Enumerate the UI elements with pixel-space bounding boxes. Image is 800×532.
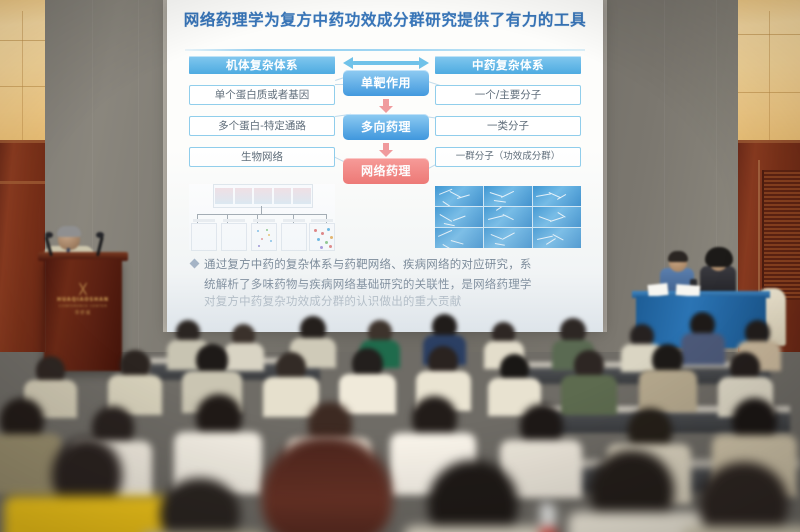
column-right-item-2: 一群分子（功效成分群） xyxy=(435,147,581,167)
diagram-column-middle: 单靶作用 多向药理 网络药理 xyxy=(343,56,429,184)
bullet-line-2: 对复方中药复杂功效成分群的认识做出的重大贡献 xyxy=(191,293,583,310)
figure-molecule-grid xyxy=(435,186,581,248)
speaker-hair xyxy=(57,226,81,237)
panelist-right-hair xyxy=(705,247,733,267)
column-right-header: 中药复杂体系 xyxy=(435,56,581,74)
gold-wall-panel-left xyxy=(0,0,45,140)
bullet-diamond-icon xyxy=(190,259,200,269)
slide-title: 网络药理学为复方中药功效成分群研究提供了有力的工具 xyxy=(167,8,603,30)
diagram-column-right: 中药复杂体系 一个/主要分子 一类分子 一群分子（功效成分群） xyxy=(435,56,581,167)
projection-screen: 网络药理学为复方中药功效成分群研究提供了有力的工具 机体复杂体系 单个蛋白质或者… xyxy=(167,0,603,332)
column-left-item-1: 多个蛋白-特定通路 xyxy=(189,116,335,136)
screen-frame-right xyxy=(603,0,607,332)
column-left-item-0: 单个蛋白质或者基因 xyxy=(189,85,335,105)
middle-box-2: 网络药理 xyxy=(343,158,429,184)
middle-box-0: 单靶作用 xyxy=(343,70,429,96)
document-right xyxy=(676,284,701,297)
door-jamb xyxy=(758,160,760,310)
audience xyxy=(0,310,800,532)
conference-photo: 网络药理学为复方中药功效成分群研究提供了有力的工具 机体复杂体系 单个蛋白质或者… xyxy=(0,0,800,532)
title-underline xyxy=(185,49,585,51)
column-left-item-2: 生物网络 xyxy=(189,147,335,167)
microphone-left-head xyxy=(45,232,53,238)
venue-logo-latin-sub: CONFERENCE CENTER xyxy=(54,304,112,308)
diagram-column-left: 机体复杂体系 单个蛋白质或者基因 多个蛋白-特定通路 生物网络 xyxy=(189,56,335,167)
document-left xyxy=(647,283,668,297)
double-arrow-icon xyxy=(343,56,429,70)
bullet-line-1: 统解析了多味药物与疾病网络基础研究的关联性，是网络药理学 xyxy=(191,276,583,293)
slide-bullets: 通过复方中药的复杂体系与药靶网络、疾病网络的对应研究，系 统解析了多味药物与疾病… xyxy=(191,256,583,310)
column-right-item-1: 一类分子 xyxy=(435,116,581,136)
arrow-down-icon-2 xyxy=(343,140,429,158)
mountain-peaks-icon xyxy=(75,283,91,295)
column-left-header: 机体复杂体系 xyxy=(189,56,335,74)
venue-logo-latin: HUAQIAOSHAN xyxy=(54,297,112,303)
slide-diagram: 机体复杂体系 单个蛋白质或者基因 多个蛋白-特定通路 生物网络 单靶作用 多向药… xyxy=(167,56,603,256)
panelist-left-hair xyxy=(668,251,688,262)
column-right-item-0: 一个/主要分子 xyxy=(435,85,581,105)
water-bottle-foreground xyxy=(540,506,556,532)
bullet-line-0: 通过复方中药的复杂体系与药靶网络、疾病网络的对应研究，系 xyxy=(204,256,532,273)
louvered-vent xyxy=(762,170,800,300)
microphone-right-head xyxy=(96,232,104,238)
middle-box-1: 多向药理 xyxy=(343,114,429,140)
figure-biological-network-tree xyxy=(189,184,335,250)
gold-wall-panel-right xyxy=(738,0,800,140)
arrow-down-icon-1 xyxy=(343,96,429,114)
